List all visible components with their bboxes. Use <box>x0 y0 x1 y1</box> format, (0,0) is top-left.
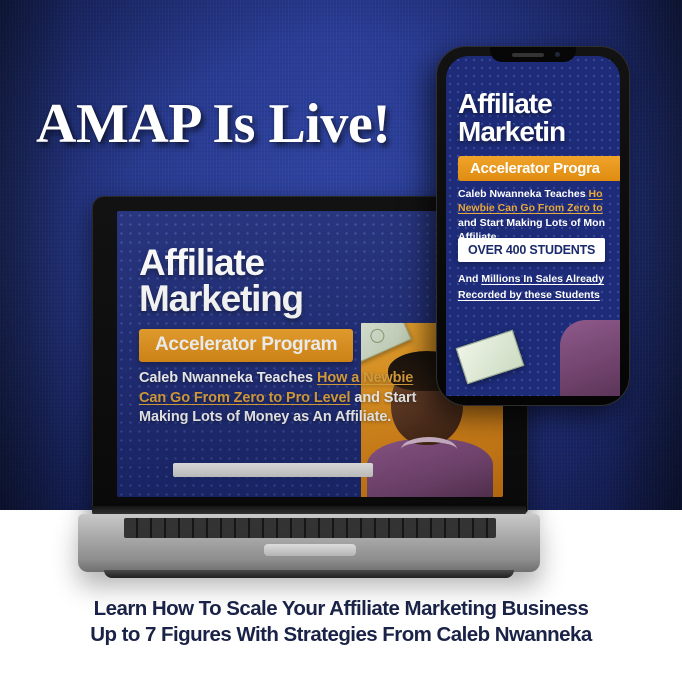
laptop-trackpad <box>264 544 356 556</box>
phone-title-line1: Affiliate <box>458 90 620 118</box>
bottom-caption: Learn How To Scale Your Affiliate Market… <box>0 596 682 648</box>
phone-body-line1: Caleb Nwanneka Teaches Ho <box>458 187 620 201</box>
caption-line2: Up to 7 Figures With Strategies From Cal… <box>0 622 682 648</box>
phone-notch <box>490 47 576 62</box>
phone-body-line1-prefix: Caleb Nwanneka Teaches <box>458 188 589 200</box>
phone-body-line3: and Start Making Lots of Mon <box>458 216 620 230</box>
phone-screen-title: Affiliate Marketin <box>458 90 620 146</box>
phone-sales-prefix: And <box>458 273 481 285</box>
caption-line1: Learn How To Scale Your Affiliate Market… <box>0 596 682 622</box>
headline: AMAP Is Live! <box>36 96 456 152</box>
promo-graphic: AMAP Is Live! Affiliate Marketing Accel <box>0 0 682 682</box>
phone-mockup: Affiliate Marketin Accelerator Progra Ca… <box>436 46 630 406</box>
students-count-badge: OVER 400 STUDENTS <box>458 238 605 262</box>
phone-sales-text: And Millions In Sales Already Recorded b… <box>458 272 608 304</box>
phone-body-line2: Newbie Can Go From Zero to <box>458 201 620 215</box>
phone-speaker-icon <box>512 53 544 57</box>
phone-title-line2: Marketin <box>458 118 620 146</box>
laptop-foot <box>104 570 514 578</box>
phone-presenter-photo <box>560 320 620 396</box>
phone-body-line1-highlight: Ho <box>589 188 603 200</box>
laptop-keyboard <box>124 518 496 538</box>
phone-body-text: Caleb Nwanneka Teaches Ho Newbie Can Go … <box>458 187 620 245</box>
phone-camera-icon <box>555 52 560 57</box>
phone-accelerator-banner: Accelerator Progra <box>458 156 620 181</box>
phone-screen: Affiliate Marketin Accelerator Progra Ca… <box>446 56 620 396</box>
